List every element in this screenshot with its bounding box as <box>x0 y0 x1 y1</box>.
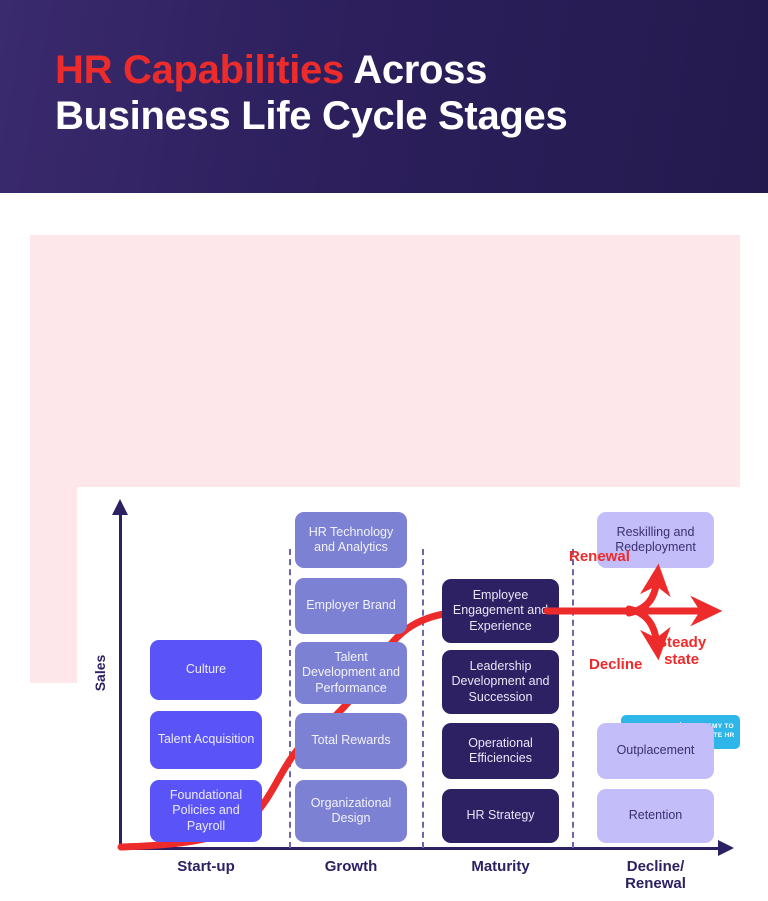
label-renewal: Renewal <box>569 549 630 566</box>
divider-startup-growth <box>289 549 291 848</box>
arrow-decline <box>629 609 657 645</box>
y-axis-arrow-icon <box>112 499 128 515</box>
y-axis <box>119 513 122 850</box>
stage-decline-line2: Renewal <box>625 875 686 892</box>
arrow-renewal <box>629 579 657 613</box>
box-total-rewards[interactable]: Total Rewards <box>295 713 407 769</box>
box-retention[interactable]: Retention <box>597 789 714 843</box>
y-axis-label: Sales <box>92 638 108 708</box>
box-employee-engagement[interactable]: Employee Engagement and Experience <box>442 579 559 643</box>
box-foundational-policies[interactable]: Foundational Policies and Payroll <box>150 780 262 842</box>
box-employer-brand[interactable]: Employer Brand <box>295 578 407 634</box>
box-operational-efficiencies[interactable]: Operational Efficiencies <box>442 723 559 779</box>
header-banner: HR Capabilities Across Business Life Cyc… <box>0 0 768 193</box>
stage-label-growth: Growth <box>295 859 407 876</box>
label-decline: Decline <box>589 657 642 674</box>
stage-label-decline-renewal: Decline/ Renewal <box>597 859 714 893</box>
box-hr-technology[interactable]: HR Technology and Analytics <box>295 512 407 568</box>
stage-decline-line1: Decline/ <box>627 858 685 875</box>
stage-label-maturity: Maturity <box>442 859 559 876</box>
label-steady-state: Steadystate <box>657 635 706 668</box>
page-title: HR Capabilities Across Business Life Cyc… <box>55 48 567 139</box>
chart-frame: Sales Culture Talent Acquisition Foundat… <box>30 235 740 683</box>
box-organizational-design[interactable]: Organizational Design <box>295 780 407 842</box>
x-axis-arrow-icon <box>718 840 734 856</box>
box-talent-development[interactable]: Talent Development and Performance <box>295 642 407 704</box>
box-talent-acquisition[interactable]: Talent Acquisition <box>150 711 262 769</box>
box-leadership-development[interactable]: Leadership Development and Succession <box>442 650 559 714</box>
stage-label-startup: Start-up <box>150 859 262 876</box>
title-line2: Business Life Cycle Stages <box>55 94 567 138</box>
chart-canvas: Sales Culture Talent Acquisition Foundat… <box>77 487 753 901</box>
divider-maturity-decline <box>572 549 574 848</box>
box-culture[interactable]: Culture <box>150 640 262 700</box>
box-outplacement[interactable]: Outplacement <box>597 723 714 779</box>
title-accent: HR Capabilities <box>55 48 344 92</box>
box-hr-strategy[interactable]: HR Strategy <box>442 789 559 843</box>
chart-plot-area: Sales Culture Talent Acquisition Foundat… <box>77 487 753 901</box>
divider-growth-maturity <box>422 549 424 848</box>
title-rest: Across <box>344 48 487 92</box>
